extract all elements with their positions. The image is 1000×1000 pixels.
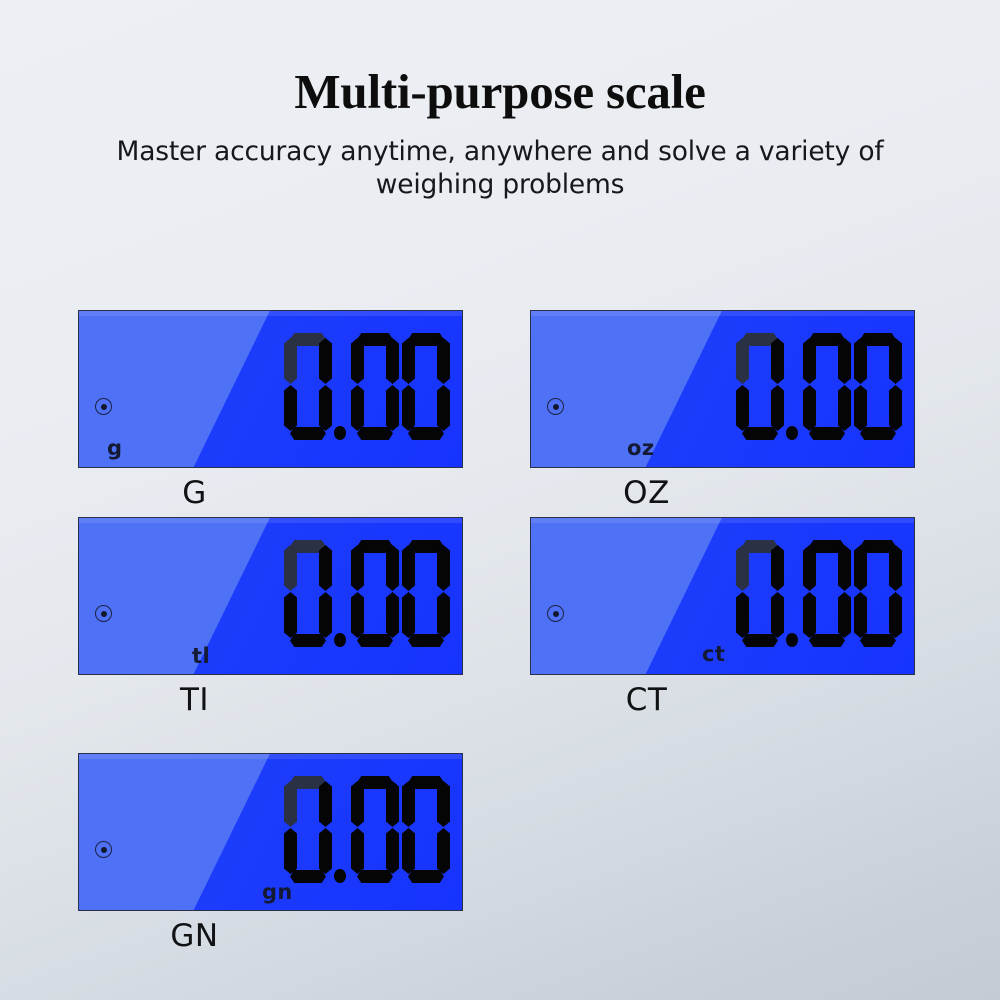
lcd-readout-0-00 — [284, 776, 450, 884]
lcd-readout-0-00 — [736, 540, 902, 648]
lcd-display-ti: tl — [78, 517, 463, 675]
scale-unit-caption: OZ — [530, 474, 915, 513]
scale-unit-caption: G — [78, 474, 463, 513]
seven-segment-digit — [402, 776, 450, 884]
lcd-top-sheen — [531, 518, 914, 523]
seven-segment-digit — [402, 333, 450, 441]
lcd-unit-label: g — [107, 438, 122, 459]
seven-segment-digit — [284, 333, 332, 441]
lcd-top-sheen — [531, 311, 914, 316]
stability-dot-icon — [95, 841, 112, 858]
scale-unit-card-oz: oz OZ — [530, 310, 915, 513]
page-title: Multi-purpose scale — [0, 66, 1000, 118]
lcd-display-ct: ct — [530, 517, 915, 675]
seven-segment-digit — [736, 333, 784, 441]
decimal-point-icon — [332, 333, 348, 441]
lcd-top-sheen — [79, 311, 462, 316]
page-header: Multi-purpose scale Master accuracy anyt… — [0, 0, 1000, 202]
seven-segment-digit — [736, 540, 784, 648]
lcd-readout-0-00 — [284, 540, 450, 648]
seven-segment-digit — [854, 333, 902, 441]
seven-segment-digit — [803, 540, 851, 648]
seven-segment-digit — [803, 333, 851, 441]
stability-dot-icon — [95, 605, 112, 622]
scale-unit-card-ct: ct CT — [530, 517, 915, 720]
seven-segment-digit — [351, 776, 399, 884]
lcd-readout-0-00 — [284, 333, 450, 441]
lcd-unit-label: tl — [192, 646, 210, 667]
stability-dot-icon — [547, 398, 564, 415]
lcd-unit-label: oz — [627, 438, 654, 459]
lcd-top-sheen — [79, 754, 462, 759]
scale-unit-card-ti: tl TI — [78, 517, 463, 720]
seven-segment-digit — [284, 776, 332, 884]
scale-unit-caption: CT — [530, 681, 915, 720]
decimal-point-icon — [784, 540, 800, 648]
scale-unit-card-g: g G — [78, 310, 463, 513]
lcd-top-sheen — [79, 518, 462, 523]
stability-dot-icon — [547, 605, 564, 622]
lcd-display-oz: oz — [530, 310, 915, 468]
seven-segment-digit — [351, 333, 399, 441]
scale-unit-card-gn: gn GN — [78, 753, 463, 956]
seven-segment-digit — [351, 540, 399, 648]
seven-segment-digit — [284, 540, 332, 648]
lcd-display-gn: gn — [78, 753, 463, 911]
seven-segment-digit — [854, 540, 902, 648]
lcd-display-g: g — [78, 310, 463, 468]
lcd-unit-label: ct — [702, 644, 725, 665]
stability-dot-icon — [95, 398, 112, 415]
lcd-unit-label: gn — [262, 882, 293, 903]
decimal-point-icon — [332, 540, 348, 648]
decimal-point-icon — [332, 776, 348, 884]
scale-unit-caption: TI — [78, 681, 463, 720]
scale-unit-caption: GN — [78, 917, 463, 956]
decimal-point-icon — [784, 333, 800, 441]
lcd-readout-0-00 — [736, 333, 902, 441]
seven-segment-digit — [402, 540, 450, 648]
page-subtitle: Master accuracy anytime, anywhere and so… — [0, 135, 1000, 202]
